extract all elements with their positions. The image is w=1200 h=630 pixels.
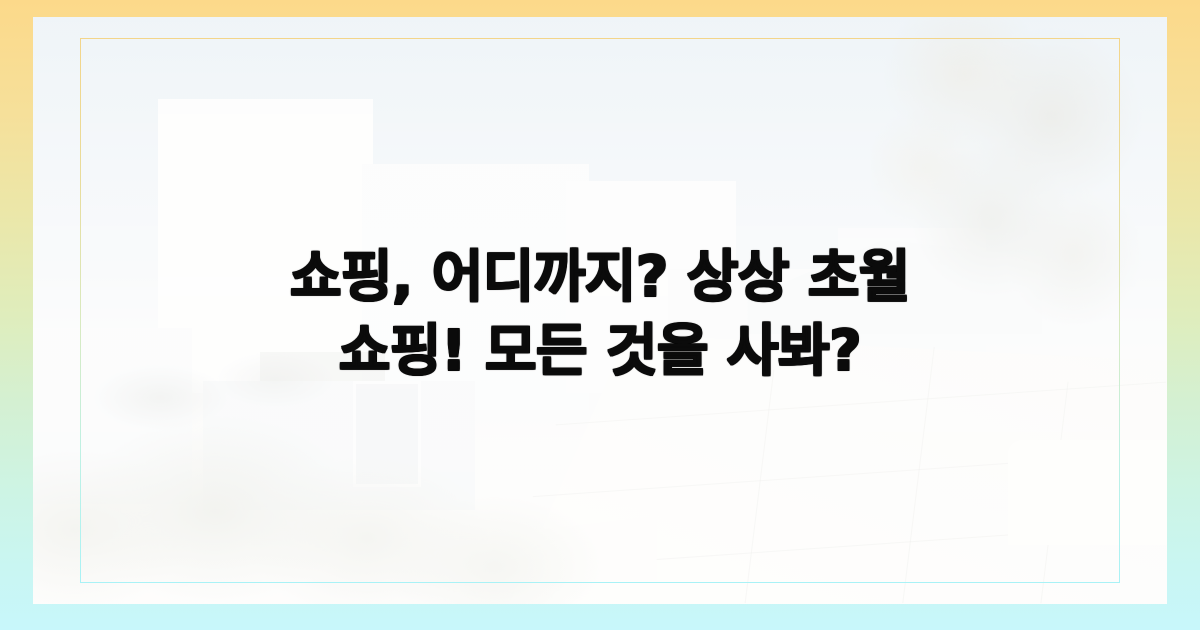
headline-container: 쇼핑, 어디까지? 상상 초월 쇼핑! 모든 것을 사봐? [0, 0, 1200, 630]
page-title: 쇼핑, 어디까지? 상상 초월 쇼핑! 모든 것을 사봐? [270, 241, 930, 390]
banner-card: 쇼핑, 어디까지? 상상 초월 쇼핑! 모든 것을 사봐? [0, 0, 1200, 630]
